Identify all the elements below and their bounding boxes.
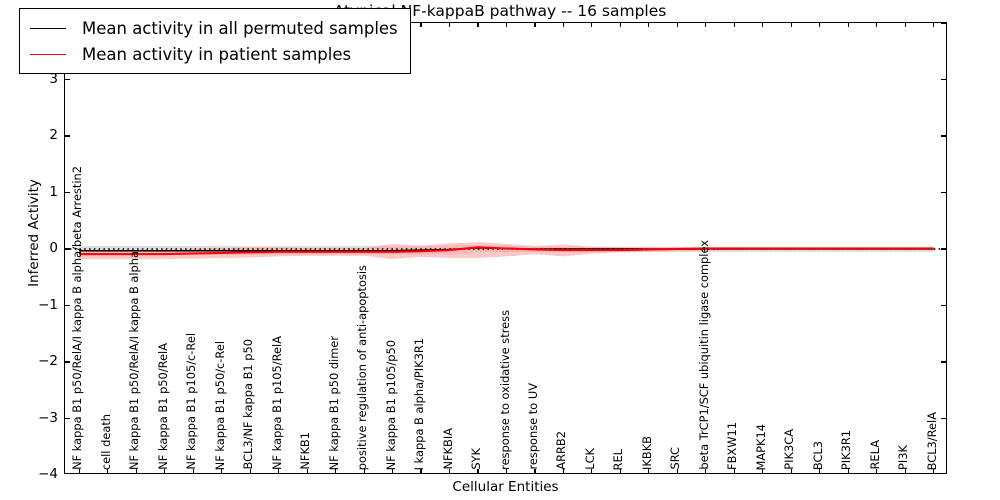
y-tick-label: −4 [2, 466, 58, 482]
y-tick-label: 0 [2, 240, 58, 256]
y-tick-label: −3 [2, 410, 58, 426]
legend-label: Mean activity in all permuted samples [82, 19, 398, 38]
x-tick-mark [420, 23, 421, 27]
x-tick-mark [762, 23, 763, 27]
x-tick-mark [534, 23, 535, 27]
x-tick-mark [876, 23, 877, 27]
x-tick-label: SYK [471, 448, 482, 470]
x-tick-mark [449, 23, 450, 27]
x-tick-label: IKBKB [642, 436, 653, 470]
x-tick-label: NF kappa B1 p50/RelA/I kappa B alpha [129, 251, 140, 470]
x-tick-mark [677, 23, 678, 27]
x-tick-label: I kappa B alpha/PIK3R1 [414, 338, 425, 470]
x-tick-mark [905, 23, 906, 27]
x-tick-label: NF kappa B1 p105/RelA [272, 336, 283, 470]
x-tick-label: LCK [585, 448, 596, 470]
x-tick-label: BCL3 [813, 441, 824, 470]
x-tick-mark [791, 23, 792, 27]
y-tick-mark [65, 305, 70, 306]
x-tick-mark [648, 23, 649, 27]
x-tick-label: NFKBIA [443, 428, 454, 470]
x-tick-label: beta TrCP1/SCF ubiquitin ligase complex [699, 240, 710, 470]
x-tick-mark [250, 469, 251, 473]
x-axis-label: Cellular Entities [64, 479, 947, 495]
x-tick-label: PIK3R1 [841, 430, 852, 470]
x-tick-mark [819, 23, 820, 27]
y-tick-mark [65, 248, 70, 249]
x-tick-label: NF kappa B1 p50 dimer [329, 336, 340, 470]
y-tick-mark [941, 361, 946, 362]
x-tick-label: PIK3CA [784, 429, 795, 470]
x-tick-mark [591, 23, 592, 27]
y-tick-mark [941, 22, 946, 23]
x-tick-label: PI3K [898, 445, 909, 470]
x-tick-mark [848, 23, 849, 27]
x-tick-mark [705, 23, 706, 27]
y-tick-mark [941, 248, 946, 249]
x-tick-label: RELA [870, 440, 881, 470]
x-tick-mark [677, 469, 678, 473]
y-tick-label: 2 [2, 127, 58, 143]
x-tick-label: response to UV [528, 383, 539, 470]
legend-line-swatch [30, 28, 66, 29]
x-tick-mark [734, 23, 735, 27]
y-tick-mark [941, 79, 946, 80]
x-tick-label: BCL3/RelA [927, 412, 938, 470]
x-tick-label: NF kappa B1 p105/c-Rel [186, 333, 197, 470]
y-tick-label: −1 [2, 297, 58, 313]
legend-label: Mean activity in patient samples [82, 45, 351, 64]
x-tick-label: REL [613, 449, 624, 470]
x-tick-label: NF kappa B1 p50/RelA [158, 343, 169, 470]
legend-item: Mean activity in patient samples [30, 41, 398, 67]
chart-legend: Mean activity in all permuted samplesMea… [19, 8, 411, 74]
y-tick-mark [941, 192, 946, 193]
y-tick-mark [65, 79, 70, 80]
y-tick-mark [941, 418, 946, 419]
x-tick-label: SRC [670, 447, 681, 470]
x-tick-label: MAPK14 [756, 424, 767, 470]
legend-item: Mean activity in all permuted samples [30, 15, 398, 41]
x-tick-label: NF kappa B1 p50/c-Rel [215, 341, 226, 470]
y-tick-mark [941, 135, 946, 136]
x-tick-mark [477, 23, 478, 27]
x-tick-label: FBXW11 [727, 422, 738, 470]
y-tick-mark [65, 418, 70, 419]
x-tick-mark [193, 469, 194, 473]
legend-line-swatch [30, 54, 66, 55]
y-tick-mark [65, 361, 70, 362]
x-tick-mark [449, 469, 450, 473]
y-tick-label: 1 [2, 184, 58, 200]
x-tick-label: BCL3/NF kappa B1 p50 [243, 339, 254, 470]
y-tick-mark [941, 305, 946, 306]
x-tick-mark [506, 23, 507, 27]
x-tick-label: NFKB1 [300, 432, 311, 470]
y-tick-label: −2 [2, 353, 58, 369]
x-tick-label: NF kappa B1 p50/RelA/I kappa B alpha/bet… [72, 166, 83, 470]
y-tick-mark [65, 135, 70, 136]
figure: Atypical NF-kappaB pathway -- 16 samples… [0, 0, 1000, 500]
x-tick-mark [620, 23, 621, 27]
x-tick-label: positive regulation of anti-apoptosis [357, 265, 368, 470]
x-tick-label: cell death [101, 414, 112, 470]
x-tick-label: response to oxidative stress [500, 310, 511, 470]
y-tick-mark [65, 192, 70, 193]
x-tick-mark [876, 469, 877, 473]
x-tick-mark [534, 469, 535, 473]
x-tick-mark [563, 23, 564, 27]
x-tick-label: NF kappa B1 p105/p50 [386, 340, 397, 470]
x-tick-mark [933, 23, 934, 27]
x-tick-label: ARRB2 [556, 431, 567, 470]
